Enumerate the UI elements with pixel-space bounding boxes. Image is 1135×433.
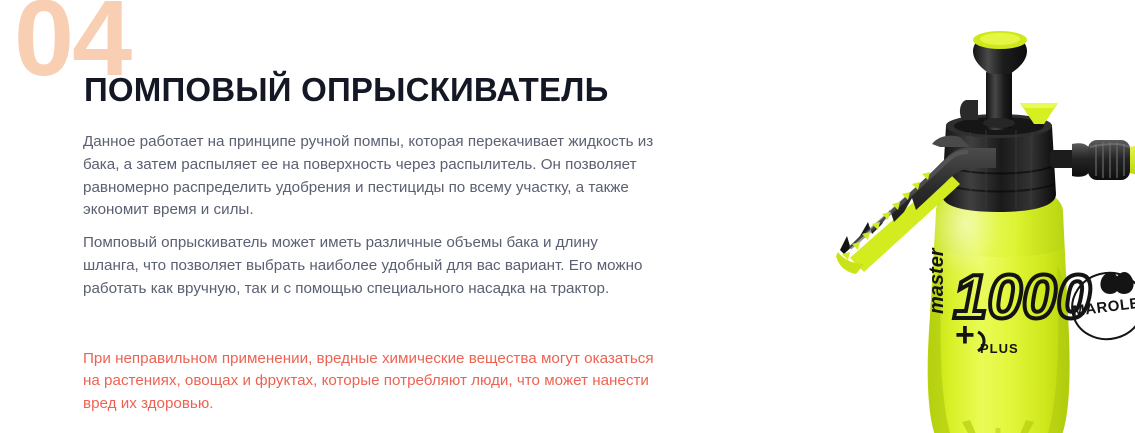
sprayer-illustration: master 1000 + PLUS MAROLEX bbox=[820, 16, 1135, 433]
body-paragraph-1: Данное работает на принципе ручной помпы… bbox=[83, 131, 655, 222]
sprayer-nozzle bbox=[1050, 140, 1135, 180]
product-image-sprayer: master 1000 + PLUS MAROLEX bbox=[820, 16, 1135, 433]
label-plus-symbol: + bbox=[955, 316, 975, 354]
paragraph-spacer bbox=[83, 311, 655, 348]
nozzle-tip bbox=[1130, 142, 1135, 178]
warning-paragraph: При неправильном применении, вредные хим… bbox=[83, 348, 673, 416]
label-plus-text: PLUS bbox=[980, 341, 1019, 356]
text-column: Данное работает на принципе ручной помпы… bbox=[83, 131, 655, 416]
slide-root: 04 ПОМПОВЫЙ ОПРЫСКИВАТЕЛЬ Данное работае… bbox=[0, 0, 1135, 433]
page-title: ПОМПОВЫЙ ОПРЫСКИВАТЕЛЬ bbox=[84, 73, 609, 108]
label-master-text: master bbox=[926, 247, 948, 314]
body-paragraph-2: Помповый опрыскиватель может иметь разли… bbox=[83, 232, 655, 300]
